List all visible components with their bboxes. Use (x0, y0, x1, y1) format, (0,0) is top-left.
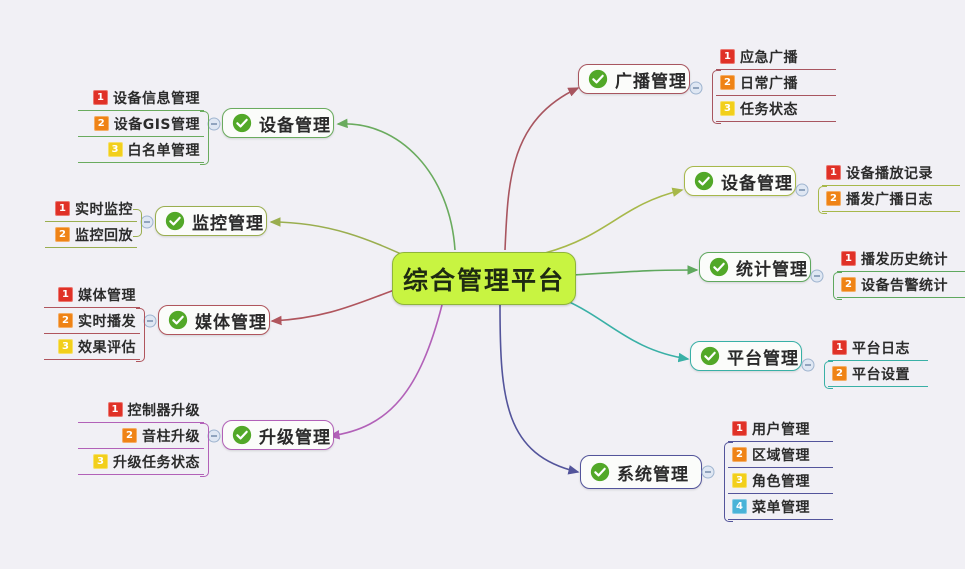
leaf-bracket-tongji (833, 272, 842, 300)
check-circle-icon (232, 425, 252, 445)
leaf-item[interactable]: 1 应急广播 (716, 44, 836, 70)
leaf-label: 音柱升级 (142, 426, 200, 446)
leaf-label: 效果评估 (78, 337, 136, 357)
branch-node-jiankong[interactable]: 监控管理 (155, 206, 267, 236)
branch-node-shebei-right[interactable]: 设备管理 (684, 166, 796, 196)
leaf-item[interactable]: 2 实时播发 (44, 308, 140, 334)
link-shengji (330, 305, 442, 436)
link-shebei-left (338, 124, 455, 250)
leaf-group-xitong: 1 用户管理 2 区域管理 3 角色管理 4 菜单管理 (728, 416, 833, 520)
branch-label: 广播管理 (615, 67, 687, 92)
leaf-label: 平台日志 (852, 338, 910, 358)
leaf-label: 设备GIS管理 (114, 114, 200, 134)
collapse-toggle-pingtai[interactable] (800, 357, 816, 373)
center-node[interactable]: 综合管理平台 (392, 252, 576, 305)
leaf-badge: 1 (108, 402, 123, 417)
leaf-label: 任务状态 (740, 99, 798, 119)
leaf-item[interactable]: 2 区域管理 (728, 442, 833, 468)
leaf-label: 日常广播 (740, 73, 798, 93)
leaf-badge: 3 (108, 142, 123, 157)
leaf-item[interactable]: 3 效果评估 (44, 334, 140, 360)
leaf-badge: 2 (832, 366, 847, 381)
leaf-label: 区域管理 (752, 445, 810, 465)
branch-label: 设备管理 (259, 111, 331, 136)
leaf-item[interactable]: 1 媒体管理 (44, 282, 140, 308)
check-circle-icon (590, 462, 610, 482)
branch-node-xitong[interactable]: 系统管理 (580, 455, 702, 489)
leaf-label: 实时监控 (75, 199, 133, 219)
leaf-item[interactable]: 3 白名单管理 (78, 137, 204, 163)
check-circle-icon (709, 257, 729, 277)
leaf-group-guangbo: 1 应急广播 2 日常广播 3 任务状态 (716, 44, 836, 122)
leaf-label: 用户管理 (752, 419, 810, 439)
leaf-item[interactable]: 1 控制器升级 (78, 397, 204, 423)
branch-label: 设备管理 (721, 169, 793, 194)
leaf-label: 设备告警统计 (861, 275, 948, 295)
leaf-group-shengji: 1 控制器升级 2 音柱升级 3 升级任务状态 (78, 397, 204, 475)
leaf-label: 媒体管理 (78, 285, 136, 305)
branch-label: 监控管理 (192, 209, 264, 234)
collapse-toggle-guangbo[interactable] (688, 80, 704, 96)
collapse-toggle-shebei-right[interactable] (794, 182, 810, 198)
leaf-item[interactable]: 1 设备播放记录 (822, 160, 960, 186)
leaf-badge: 1 (55, 201, 70, 216)
leaf-badge: 1 (93, 90, 108, 105)
leaf-bracket-pingtai (824, 361, 833, 389)
leaf-item[interactable]: 1 实时监控 (45, 196, 137, 222)
leaf-bracket-shebei-right (818, 186, 827, 214)
center-node-label: 综合管理平台 (403, 261, 565, 297)
leaf-badge: 1 (826, 165, 841, 180)
leaf-label: 角色管理 (752, 471, 810, 491)
leaf-bracket-guangbo (712, 70, 721, 124)
leaf-bracket-xitong (724, 442, 733, 522)
leaf-label: 控制器升级 (128, 400, 201, 420)
leaf-label: 监控回放 (75, 225, 133, 245)
leaf-badge: 1 (832, 340, 847, 355)
branch-node-meiti[interactable]: 媒体管理 (158, 305, 270, 335)
leaf-group-tongji: 1 播发历史统计 2 设备告警统计 (837, 246, 965, 298)
branch-label: 媒体管理 (195, 308, 267, 333)
collapse-toggle-tongji[interactable] (809, 268, 825, 284)
leaf-item[interactable]: 2 播发广播日志 (822, 186, 960, 212)
branch-node-tongji[interactable]: 统计管理 (699, 252, 811, 282)
leaf-group-pingtai: 1 平台日志 2 平台设置 (828, 335, 928, 387)
leaf-badge: 2 (55, 227, 70, 242)
link-jiankong (271, 222, 410, 258)
check-circle-icon (694, 171, 714, 191)
leaf-bracket-jiankong (133, 209, 142, 237)
leaf-badge: 1 (841, 251, 856, 266)
leaf-item[interactable]: 1 用户管理 (728, 416, 833, 442)
leaf-badge: 1 (720, 49, 735, 64)
leaf-item[interactable]: 1 播发历史统计 (837, 246, 965, 272)
link-guangbo (505, 88, 578, 250)
leaf-item[interactable]: 2 音柱升级 (78, 423, 204, 449)
leaf-bracket-shengji (200, 423, 209, 477)
check-circle-icon (232, 113, 252, 133)
check-circle-icon (700, 346, 720, 366)
leaf-badge: 2 (94, 116, 109, 131)
leaf-item[interactable]: 3 升级任务状态 (78, 449, 204, 475)
branch-label: 系统管理 (617, 460, 689, 485)
leaf-item[interactable]: 4 菜单管理 (728, 494, 833, 520)
leaf-item[interactable]: 2 平台设置 (828, 361, 928, 387)
leaf-badge: 2 (826, 191, 841, 206)
link-tongji (572, 270, 697, 275)
leaf-group-shebei-right: 1 设备播放记录 2 播发广播日志 (822, 160, 960, 212)
leaf-item[interactable]: 2 设备告警统计 (837, 272, 965, 298)
check-circle-icon (165, 211, 185, 231)
check-circle-icon (588, 69, 608, 89)
link-xitong (500, 305, 578, 472)
branch-label: 平台管理 (727, 344, 799, 369)
leaf-badge: 2 (841, 277, 856, 292)
leaf-item[interactable]: 3 角色管理 (728, 468, 833, 494)
leaf-label: 设备信息管理 (113, 88, 200, 108)
mindmap-canvas: 综合管理平台 广播管理 1 应急广播 2 日常广播 3 任务状态 (0, 0, 965, 569)
link-pingtai (565, 300, 688, 359)
leaf-item[interactable]: 2 日常广播 (716, 70, 836, 96)
leaf-label: 升级任务状态 (113, 452, 200, 472)
leaf-label: 实时播发 (78, 311, 136, 331)
branch-label: 升级管理 (259, 423, 331, 448)
branch-label: 统计管理 (736, 255, 808, 280)
leaf-badge: 2 (732, 447, 747, 462)
link-meiti (272, 288, 400, 321)
branch-node-shengji[interactable]: 升级管理 (222, 420, 334, 450)
branch-node-guangbo[interactable]: 广播管理 (578, 64, 690, 94)
leaf-item[interactable]: 1 设备信息管理 (78, 85, 204, 111)
leaf-badge: 1 (58, 287, 73, 302)
leaf-label: 播发历史统计 (861, 249, 948, 269)
leaf-badge: 3 (720, 101, 735, 116)
leaf-label: 设备播放记录 (846, 163, 933, 183)
leaf-label: 应急广播 (740, 47, 798, 67)
leaf-label: 播发广播日志 (846, 189, 933, 209)
leaf-badge: 2 (58, 313, 73, 328)
leaf-item[interactable]: 1 平台日志 (828, 335, 928, 361)
check-circle-icon (168, 310, 188, 330)
branch-node-pingtai[interactable]: 平台管理 (690, 341, 802, 371)
leaf-badge: 3 (732, 473, 747, 488)
leaf-group-meiti: 1 媒体管理 2 实时播发 3 效果评估 (44, 282, 140, 360)
collapse-toggle-xitong[interactable] (700, 464, 716, 480)
branch-node-shebei-left[interactable]: 设备管理 (222, 108, 334, 138)
leaf-group-jiankong: 1 实时监控 2 监控回放 (45, 196, 137, 248)
leaf-group-shebei-left: 1 设备信息管理 2 设备GIS管理 3 白名单管理 (78, 85, 204, 163)
leaf-label: 菜单管理 (752, 497, 810, 517)
leaf-item[interactable]: 3 任务状态 (716, 96, 836, 122)
leaf-badge: 4 (732, 499, 747, 514)
leaf-item[interactable]: 2 设备GIS管理 (78, 111, 204, 137)
leaf-badge: 3 (93, 454, 108, 469)
leaf-badge: 2 (720, 75, 735, 90)
leaf-bracket-meiti (136, 308, 145, 362)
leaf-item[interactable]: 2 监控回放 (45, 222, 137, 248)
link-shebei-right (545, 190, 682, 253)
leaf-badge: 2 (122, 428, 137, 443)
leaf-badge: 3 (58, 339, 73, 354)
leaf-label: 平台设置 (852, 364, 910, 384)
leaf-label: 白名单管理 (128, 140, 201, 160)
leaf-bracket-shebei-left (200, 111, 209, 165)
leaf-badge: 1 (732, 421, 747, 436)
